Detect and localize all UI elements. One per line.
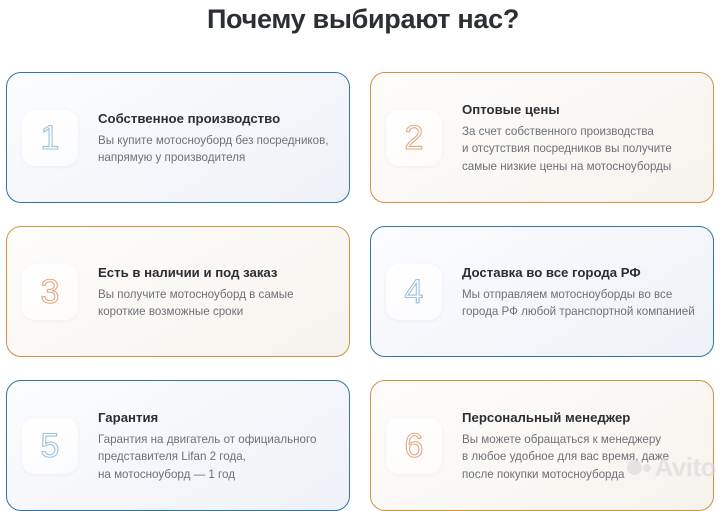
description-line: представителя Lifan 2 года, — [98, 448, 333, 465]
benefit-card-5: 5 Гарантия Гарантия на двигатель от офиц… — [6, 380, 350, 511]
benefit-content-2: Оптовые цены За счет собственного произв… — [462, 100, 697, 175]
numeral-5-icon: 5 — [41, 429, 60, 463]
benefit-card-1: 1 Собственное производство Вы купите мот… — [6, 72, 350, 203]
benefit-title-4: Доставка во все города РФ — [462, 264, 697, 281]
numeral-4-icon: 4 — [405, 275, 424, 309]
benefit-number-badge-5: 5 — [22, 418, 78, 474]
benefit-card-4: 4 Доставка во все города РФ Мы отправляе… — [370, 226, 714, 357]
benefit-description-3: Вы получите мотосноуборд в самые коротки… — [98, 286, 333, 320]
benefit-number-badge-1: 1 — [22, 110, 78, 166]
page-title: Почему выбирают нас? — [0, 2, 720, 36]
description-line: Вы получите мотосноуборд в самые — [98, 286, 333, 303]
benefit-title-3: Есть в наличии и под заказ — [98, 264, 333, 281]
description-line: после покупки мотосноуборда — [462, 466, 697, 483]
description-line: Мы отправляем мотосноуборды во все — [462, 286, 697, 303]
benefit-content-5: Гарантия Гарантия на двигатель от официа… — [98, 408, 333, 483]
benefit-title-2: Оптовые цены — [462, 101, 697, 118]
benefit-number-badge-4: 4 — [386, 264, 442, 320]
description-line: в любое удобное для вас время, даже — [462, 448, 697, 465]
numeral-1-icon: 1 — [41, 121, 60, 155]
description-line: на мотосноуборд — 1 год — [98, 466, 333, 483]
description-line: За счет собственного производства — [462, 123, 697, 140]
benefit-content-4: Доставка во все города РФ Мы отправляем … — [462, 263, 697, 320]
numeral-3-icon: 3 — [41, 275, 60, 309]
benefit-content-6: Персональный менеджер Вы можете обращать… — [462, 408, 697, 483]
benefit-description-6: Вы можете обращаться к менеджеру в любое… — [462, 431, 697, 483]
benefit-description-2: За счет собственного производства и отсу… — [462, 123, 697, 175]
benefit-content-3: Есть в наличии и под заказ Вы получите м… — [98, 263, 333, 320]
description-line: Вы можете обращаться к менеджеру — [462, 431, 697, 448]
benefit-number-badge-2: 2 — [386, 110, 442, 166]
benefit-content-1: Собственное производство Вы купите мотос… — [98, 109, 333, 166]
benefit-title-5: Гарантия — [98, 409, 333, 426]
benefit-card-3: 3 Есть в наличии и под заказ Вы получите… — [6, 226, 350, 357]
why-choose-us-section: Почему выбирают нас? 1 Собственное произ… — [0, 0, 720, 498]
benefit-description-4: Мы отправляем мотосноуборды во все город… — [462, 286, 697, 320]
description-line: Вы купите мотосноуборд без посредников, — [98, 132, 333, 149]
description-line: самые низкие цены на мотосноуборды — [462, 158, 697, 175]
benefit-title-1: Собственное производство — [98, 110, 333, 127]
benefit-card-2: 2 Оптовые цены За счет собственного прои… — [370, 72, 714, 203]
description-line: короткие возможные сроки — [98, 303, 333, 320]
numeral-2-icon: 2 — [405, 121, 424, 155]
description-line: Гарантия на двигатель от официального — [98, 431, 333, 448]
benefit-description-5: Гарантия на двигатель от официального пр… — [98, 431, 333, 483]
benefit-number-badge-6: 6 — [386, 418, 442, 474]
benefit-number-badge-3: 3 — [22, 264, 78, 320]
benefit-title-6: Персональный менеджер — [462, 409, 697, 426]
benefits-grid: 1 Собственное производство Вы купите мот… — [6, 72, 714, 511]
description-line: города РФ любой транспортной компанией — [462, 303, 697, 320]
benefit-description-1: Вы купите мотосноуборд без посредников, … — [98, 132, 333, 166]
benefit-card-6: 6 Персональный менеджер Вы можете обраща… — [370, 380, 714, 511]
description-line: напрямую у производителя — [98, 149, 333, 166]
description-line: и отсутствия посредников вы получите — [462, 140, 697, 157]
numeral-6-icon: 6 — [405, 429, 424, 463]
